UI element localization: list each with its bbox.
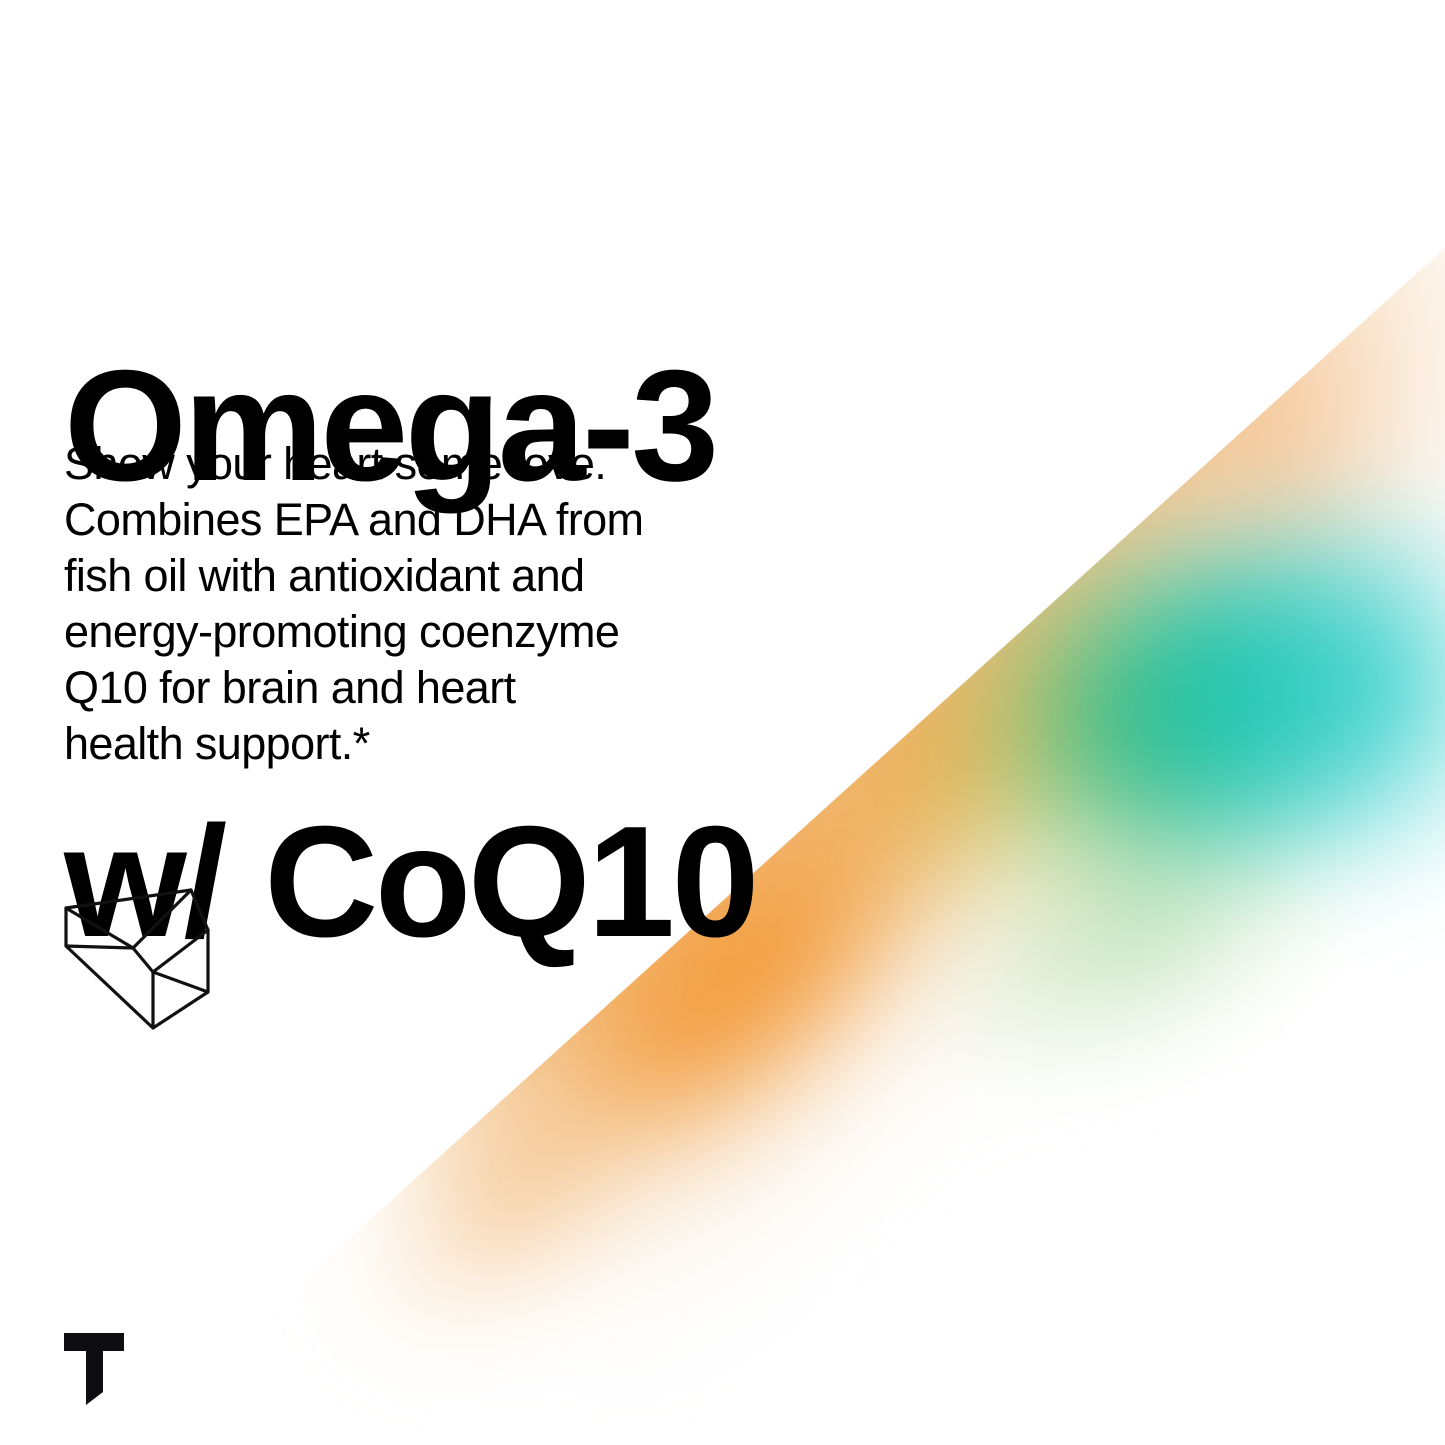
- gradient-blob-peach-apex: [1044, 211, 1445, 670]
- polyhedron-edge-f: [153, 972, 208, 992]
- body-line-4: energy-promoting coenzyme: [64, 604, 744, 660]
- body-line-2: Combines EPA and DHA from: [64, 492, 744, 548]
- product-marketing-card: Omega-3 w/ CoQ10 Show your heart some lo…: [0, 0, 1445, 1445]
- letter-t-wordmark-svg: [62, 1331, 126, 1405]
- polyhedron-edge-e: [153, 930, 208, 972]
- faceted-polyhedron-svg: [58, 886, 216, 1032]
- body-line-3: fish oil with antioxidant and: [64, 548, 744, 604]
- body-line-6: health support.*: [64, 716, 744, 772]
- gradient-blob-yellow-green: [782, 433, 1399, 1028]
- polyhedron-edge-d: [133, 948, 153, 972]
- body-line-5: Q10 for brain and heart: [64, 660, 744, 716]
- polyhedron-edge-a: [66, 908, 133, 948]
- polyhedron-edge-b: [66, 946, 133, 948]
- letter-t-shape: [64, 1333, 124, 1405]
- gradient-blob-green: [960, 520, 1390, 920]
- polyhedron-outline: [66, 890, 208, 1028]
- body-line-1: Show your heart some love.: [64, 436, 744, 492]
- gradient-blob-green-lower: [873, 731, 1396, 1138]
- brand-logo: [62, 1331, 126, 1405]
- faceted-polyhedron-icon: [58, 886, 216, 1032]
- product-description: Show your heart some love. Combines EPA …: [64, 436, 744, 772]
- gradient-blob-teal: [1075, 475, 1445, 895]
- gradient-blob-cyan: [1190, 470, 1445, 900]
